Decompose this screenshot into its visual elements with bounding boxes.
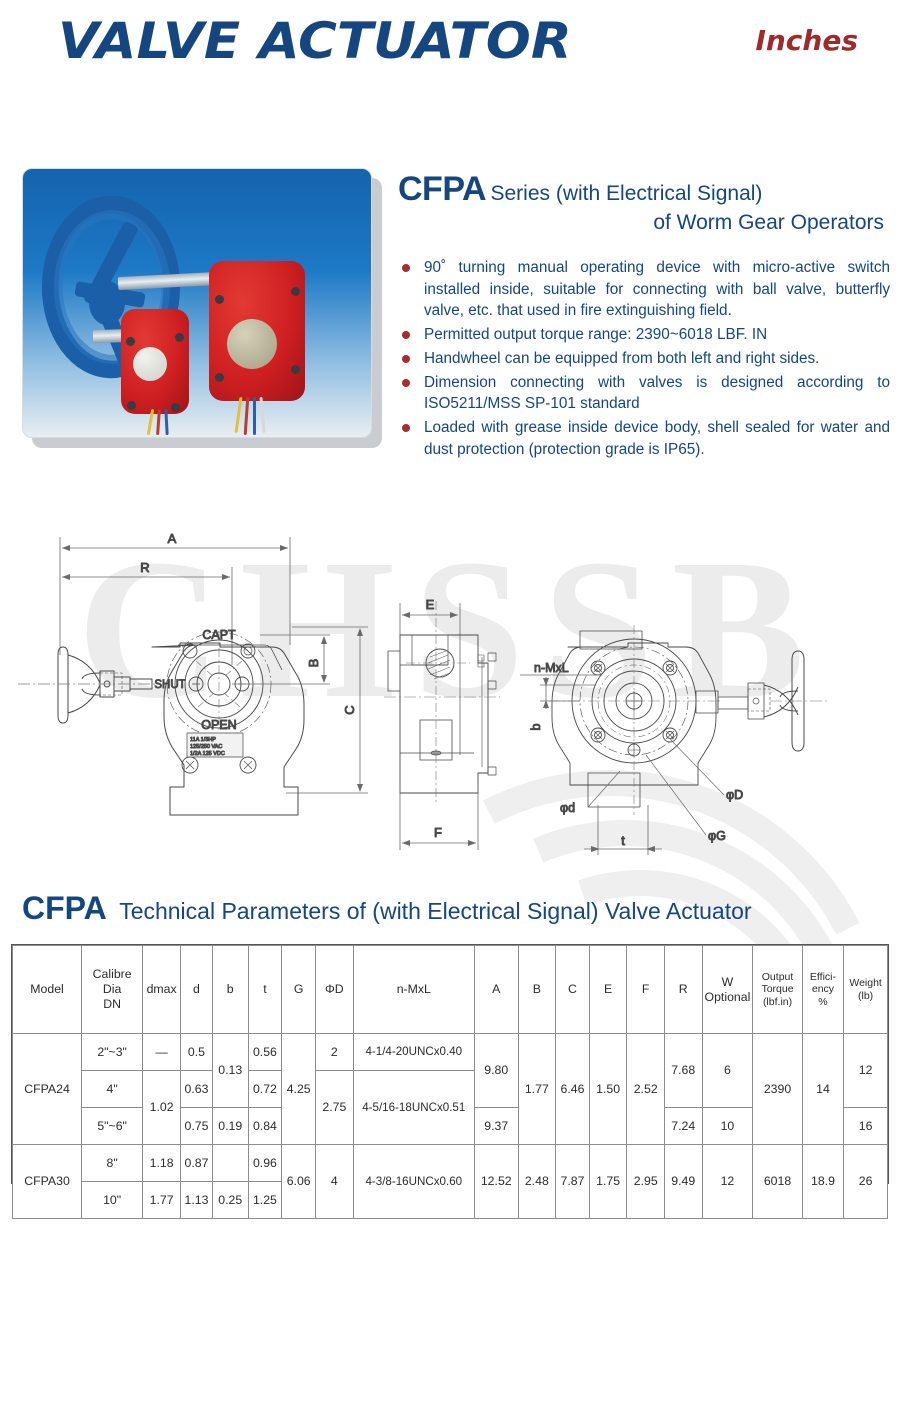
cell-dmax: 1.02 bbox=[143, 1071, 181, 1145]
cell-t: 0.56 bbox=[248, 1034, 282, 1071]
cell-d: 0.63 bbox=[181, 1071, 213, 1108]
cell-t: 0.96 bbox=[248, 1145, 282, 1182]
cell-E: 1.50 bbox=[589, 1034, 627, 1145]
drawing-label-phid: φd bbox=[560, 801, 575, 815]
cell-nmxl: 4-3/8-16UNCx0.60 bbox=[353, 1145, 474, 1219]
cell-nmxl: 4-5/16-18UNCx0.51 bbox=[353, 1071, 474, 1145]
bolt bbox=[215, 373, 224, 382]
th-C: C bbox=[556, 946, 590, 1034]
spec-table: Model Calibre Dia DN dmax d b t G ΦD n-M… bbox=[12, 945, 888, 1219]
cell-R: 7.68 bbox=[664, 1034, 702, 1108]
product-series-line1: Series (with Electrical Signal) bbox=[490, 182, 762, 205]
table-title: CFPA Technical Parameters of (with Elect… bbox=[22, 890, 752, 927]
table-header-row: Model Calibre Dia DN dmax d b t G ΦD n-M… bbox=[13, 946, 888, 1034]
cell-dn: 5"~6" bbox=[82, 1108, 143, 1145]
dimension-label-b: b bbox=[529, 723, 543, 730]
drawing-label-capt: CAPT bbox=[202, 628, 236, 642]
list-item: Handwheel can be equipped from both left… bbox=[398, 348, 890, 370]
dimension-label-F: F bbox=[434, 825, 442, 840]
cell-dmax: 1.18 bbox=[143, 1145, 181, 1182]
drawing-label-shut: SHUT bbox=[154, 679, 185, 691]
dimension-A bbox=[60, 537, 290, 655]
actuator-indicator-small bbox=[133, 347, 167, 381]
th-W-label: W bbox=[705, 975, 751, 990]
cell-R: 9.49 bbox=[664, 1145, 702, 1219]
handwheel-left-view bbox=[58, 647, 152, 723]
cell-torque: 2390 bbox=[753, 1034, 802, 1145]
th-b: b bbox=[212, 946, 248, 1034]
th-calibre-line2: DN bbox=[84, 997, 140, 1012]
cell-model-cfpa30: CFPA30 bbox=[13, 1145, 82, 1219]
th-E: E bbox=[589, 946, 627, 1034]
cell-W: 10 bbox=[702, 1108, 753, 1145]
th-W-sub: Optional bbox=[705, 990, 751, 1005]
bolt bbox=[215, 295, 224, 304]
cell-weight: 26 bbox=[844, 1145, 888, 1219]
th-G: G bbox=[282, 946, 316, 1034]
cell-B: 1.77 bbox=[518, 1034, 556, 1145]
cell-dmax: 1.77 bbox=[143, 1182, 181, 1219]
th-weight-line1: Weight bbox=[846, 977, 885, 990]
cell-dn: 8" bbox=[82, 1145, 143, 1182]
th-calibre: Calibre Dia DN bbox=[82, 946, 143, 1034]
bolt bbox=[171, 403, 180, 412]
cell-W: 6 bbox=[702, 1034, 753, 1108]
cell-efficiency: 18.9 bbox=[802, 1145, 843, 1219]
product-photo bbox=[22, 168, 372, 438]
th-R: R bbox=[664, 946, 702, 1034]
bolt bbox=[126, 337, 135, 346]
th-model: Model bbox=[13, 946, 82, 1034]
th-torque-line3: (lbf.in) bbox=[755, 996, 799, 1009]
cell-B: 2.48 bbox=[518, 1145, 556, 1219]
th-weight-line2: (lb) bbox=[846, 990, 885, 1003]
list-item: 90˚ turning manual operating device with… bbox=[398, 257, 890, 322]
th-torque-line1: Output bbox=[755, 971, 799, 984]
cell-torque: 6018 bbox=[753, 1145, 802, 1219]
cell-phiD: 2 bbox=[316, 1034, 354, 1071]
photo-image bbox=[22, 168, 372, 438]
table-row: CFPA30 8" 1.18 0.87 0.96 6.06 4 4-3/8-16… bbox=[13, 1145, 888, 1182]
dimension-label-t: t bbox=[621, 833, 625, 848]
bolt bbox=[127, 401, 136, 410]
cell-d: 0.75 bbox=[181, 1108, 213, 1145]
table-row: CFPA24 2"~3" — 0.5 0.13 0.56 4.25 2 4-1/… bbox=[13, 1034, 888, 1071]
th-eff-line3: % bbox=[805, 996, 841, 1009]
list-item: Permitted output torque range: 2390~6018… bbox=[398, 324, 890, 346]
cell-b: 0.13 bbox=[212, 1034, 248, 1108]
th-eff-line2: ency bbox=[805, 983, 841, 996]
technical-drawings: A R bbox=[0, 505, 900, 880]
dimension-label-C: C bbox=[342, 705, 357, 714]
cell-b: 0.25 bbox=[212, 1182, 248, 1219]
cell-dmax: — bbox=[143, 1034, 181, 1071]
wire bbox=[156, 409, 161, 435]
bolt bbox=[175, 333, 184, 342]
th-dmax: dmax bbox=[143, 946, 181, 1034]
cell-dn: 10" bbox=[82, 1182, 143, 1219]
cell-A: 12.52 bbox=[474, 1145, 518, 1219]
feature-list: 90˚ turning manual operating device with… bbox=[398, 257, 890, 460]
th-t: t bbox=[248, 946, 282, 1034]
cell-t: 0.84 bbox=[248, 1108, 282, 1145]
drawing-label-nmxl: n-MxL bbox=[534, 661, 569, 675]
th-B: B bbox=[518, 946, 556, 1034]
dimension-label-R: R bbox=[140, 560, 149, 575]
nameplate-line-1: 11A 1/3HP bbox=[190, 737, 216, 743]
dimension-E bbox=[400, 603, 460, 755]
cell-d: 1.13 bbox=[181, 1182, 213, 1219]
dimension-label-E: E bbox=[426, 597, 435, 612]
list-item: Loaded with grease inside device body, s… bbox=[398, 417, 890, 460]
cell-b bbox=[212, 1145, 248, 1182]
cell-weight: 16 bbox=[844, 1108, 888, 1145]
page-header: VALVE ACTUATOR Inches bbox=[0, 0, 900, 78]
th-phiD: ΦD bbox=[316, 946, 354, 1034]
product-code: CFPA bbox=[398, 170, 486, 208]
th-d: d bbox=[181, 946, 213, 1034]
cell-phiD: 4 bbox=[316, 1145, 354, 1219]
actuator-side-view bbox=[384, 601, 500, 805]
table-title-code: CFPA bbox=[22, 890, 107, 926]
cell-model-cfpa24: CFPA24 bbox=[13, 1034, 82, 1145]
cell-t: 0.72 bbox=[248, 1071, 282, 1108]
dimension-label-A: A bbox=[168, 531, 177, 546]
cell-A: 9.80 bbox=[474, 1034, 518, 1108]
cell-F: 2.52 bbox=[627, 1034, 665, 1145]
product-description: CFPA Series (with Electrical Signal) of … bbox=[398, 170, 890, 462]
cell-W: 12 bbox=[702, 1145, 753, 1219]
wire bbox=[253, 397, 256, 435]
cell-E: 1.75 bbox=[589, 1145, 627, 1219]
cell-d: 0.87 bbox=[181, 1145, 213, 1182]
actuator-right-view bbox=[548, 625, 830, 815]
th-torque-line2: Torque bbox=[755, 983, 799, 996]
cell-phiD: 2.75 bbox=[316, 1071, 354, 1145]
cell-dn: 2"~3" bbox=[82, 1034, 143, 1071]
leader-lines bbox=[520, 669, 724, 835]
drawing-label-phiG: φG bbox=[708, 829, 726, 843]
nameplate-line-2: 125/250 VAC bbox=[190, 744, 222, 750]
wire bbox=[259, 397, 265, 433]
product-series-line2: of Worm Gear Operators bbox=[398, 211, 890, 235]
drawing-label-phiD: φD bbox=[726, 788, 743, 802]
cell-G: 6.06 bbox=[282, 1145, 316, 1219]
table-title-desc: Technical Parameters of (with Electrical… bbox=[119, 898, 751, 924]
th-weight: Weight (lb) bbox=[844, 946, 888, 1034]
th-A: A bbox=[474, 946, 518, 1034]
cell-nmxl: 4-1/4-20UNCx0.40 bbox=[353, 1034, 474, 1071]
th-calibre-line1: Calibre Dia bbox=[84, 967, 140, 997]
th-torque: Output Torque (lbf.in) bbox=[753, 946, 802, 1034]
cell-R: 7.24 bbox=[664, 1108, 702, 1145]
dimension-R bbox=[62, 567, 232, 665]
list-item: Dimension connecting with valves is desi… bbox=[398, 372, 890, 415]
cell-F: 2.95 bbox=[627, 1145, 665, 1219]
dimension-label-B: B bbox=[306, 659, 321, 668]
cell-G: 4.25 bbox=[282, 1034, 316, 1145]
th-F: F bbox=[627, 946, 665, 1034]
cell-A: 9.37 bbox=[474, 1108, 518, 1145]
th-nmxl: n-MxL bbox=[353, 946, 474, 1034]
cell-b: 0.19 bbox=[212, 1108, 248, 1145]
product-heading: CFPA Series (with Electrical Signal) bbox=[398, 170, 890, 209]
dimension-F bbox=[400, 785, 478, 850]
wire bbox=[235, 397, 243, 433]
th-W: W Optional bbox=[702, 946, 753, 1034]
unit-label: Inches bbox=[755, 24, 858, 57]
th-eff-line1: Effici- bbox=[805, 971, 841, 984]
cell-C: 7.87 bbox=[556, 1145, 590, 1219]
cell-weight: 12 bbox=[844, 1034, 888, 1108]
cell-t: 1.25 bbox=[248, 1182, 282, 1219]
bolt bbox=[291, 365, 300, 374]
th-efficiency: Effici- ency % bbox=[802, 946, 843, 1034]
dimension-b bbox=[540, 677, 596, 709]
cell-d: 0.5 bbox=[181, 1034, 213, 1071]
wire bbox=[244, 397, 250, 435]
drawing-label-open: OPEN bbox=[201, 718, 236, 732]
page-title: VALVE ACTUATOR bbox=[58, 12, 572, 70]
cell-efficiency: 14 bbox=[802, 1034, 843, 1145]
bolt bbox=[291, 287, 300, 296]
nameplate-line-3: 1/2A 125 VDC bbox=[190, 751, 225, 757]
cell-C: 6.46 bbox=[556, 1034, 590, 1145]
actuator-indicator-large bbox=[227, 319, 277, 369]
cell-dn: 4" bbox=[82, 1071, 143, 1108]
